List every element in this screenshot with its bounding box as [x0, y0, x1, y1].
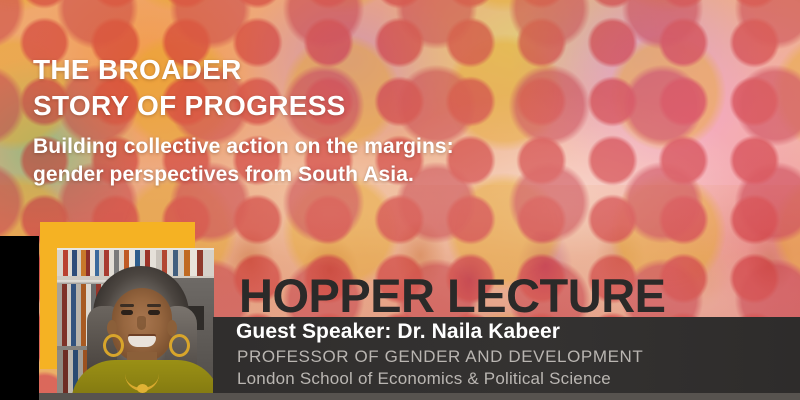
headline-line-2: STORY OF PROGRESS	[33, 88, 346, 124]
portrait-earring-left	[103, 334, 124, 357]
portrait-eye-left	[121, 310, 133, 315]
speaker-info-bar: Guest Speaker: Dr. Naila Kabeer PROFESSO…	[213, 317, 800, 400]
page-subtitle: Building collective action on the margin…	[33, 133, 454, 189]
portrait-eyebrow-right	[147, 304, 161, 307]
subheadline-line-1: Building collective action on the margin…	[33, 133, 454, 161]
hopper-lecture-poster: THE BROADER STORY OF PROGRESS Building c…	[0, 0, 800, 400]
portrait-necklace-pendant	[137, 384, 148, 393]
hopper-lecture-wordmark: HOPPER LECTURE	[239, 272, 666, 319]
subheadline-line-2: gender perspectives from South Asia.	[33, 161, 454, 189]
speaker-portrait	[57, 248, 214, 400]
portrait-nose	[137, 316, 146, 330]
page-title: THE BROADER STORY OF PROGRESS	[33, 52, 346, 123]
headline-line-1: THE BROADER	[33, 52, 346, 88]
portrait-smile	[128, 336, 156, 347]
info-bar-footer-strip	[213, 393, 800, 400]
portrait-eye-right	[148, 310, 160, 315]
speaker-affiliation: London School of Economics & Political S…	[237, 369, 611, 389]
speaker-role: PROFESSOR OF GENDER AND DEVELOPMENT	[237, 347, 643, 367]
portrait-earring-right	[169, 334, 190, 357]
black-slab-decoration	[0, 236, 39, 400]
speaker-name: Guest Speaker: Dr. Naila Kabeer	[236, 320, 560, 344]
footer-strip-black	[0, 393, 39, 400]
portrait-eyebrow-left	[120, 304, 134, 307]
